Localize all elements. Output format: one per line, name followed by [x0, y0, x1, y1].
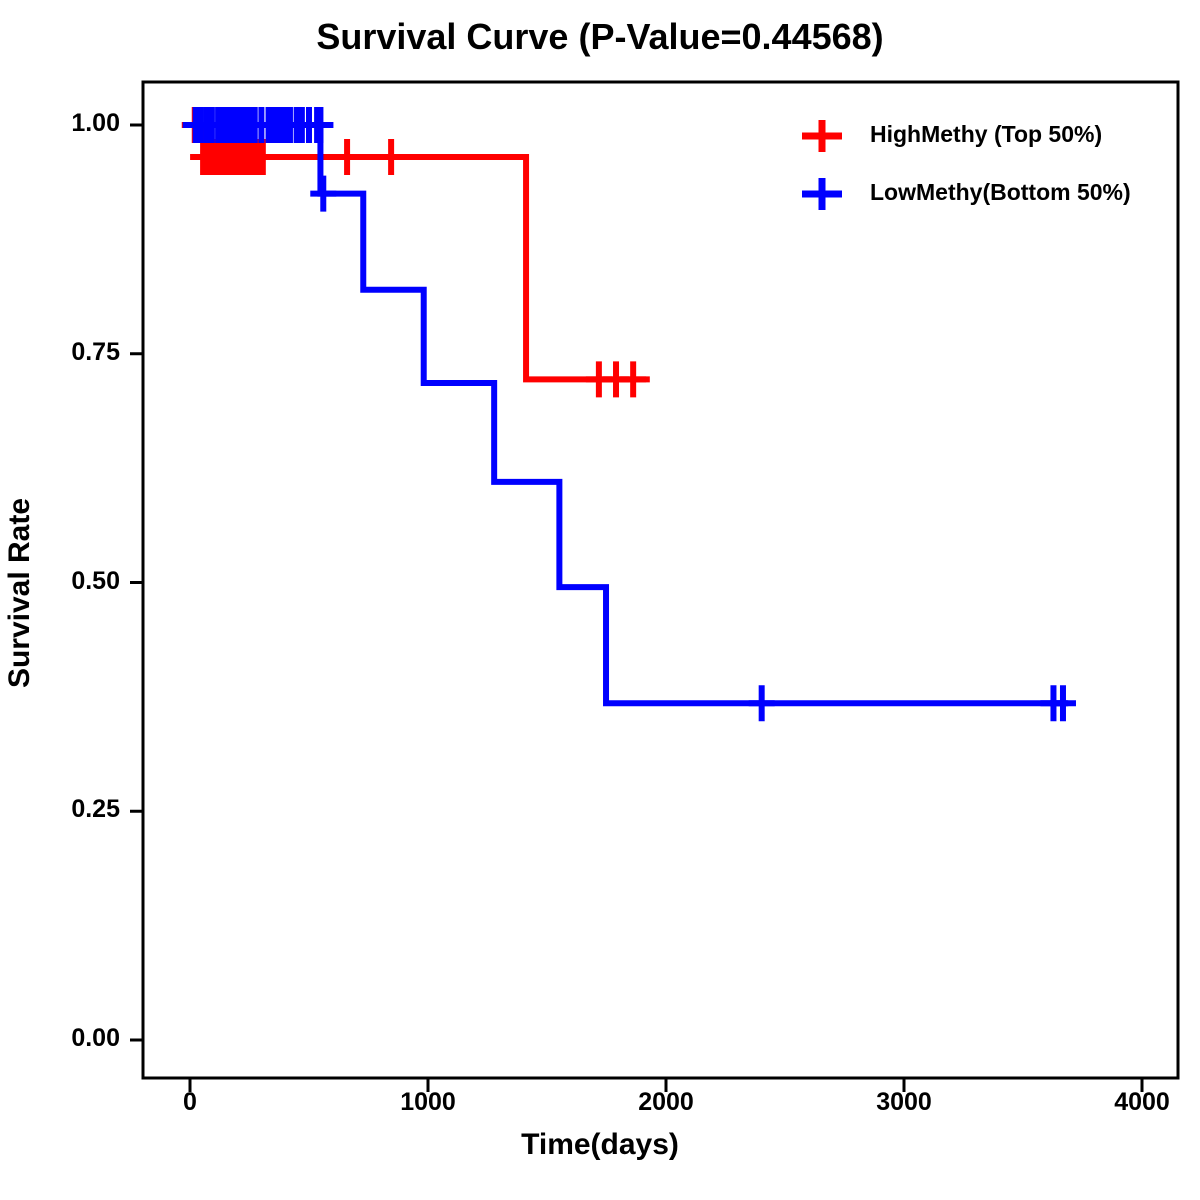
y-tick-label: 0.00 — [0, 1024, 120, 1053]
x-tick-label: 3000 — [844, 1088, 964, 1117]
y-tick-label: 0.50 — [0, 567, 120, 596]
survival-step-line-low-methy — [190, 125, 1068, 703]
y-tick-label: 0.25 — [0, 795, 120, 824]
legend-label-high-methy: HighMethy (Top 50%) — [870, 121, 1102, 148]
x-tick-label: 1000 — [368, 1088, 488, 1117]
y-tick-label: 0.75 — [0, 338, 120, 367]
x-tick-label: 0 — [130, 1088, 250, 1117]
legend-markers — [802, 120, 842, 210]
plot-panel-border — [143, 82, 1178, 1078]
survival-curve-figure: Survival Curve (P-Value=0.44568) Time(da… — [0, 0, 1200, 1200]
y-tick-label: 1.00 — [0, 109, 120, 138]
x-axis-title: Time(days) — [0, 1128, 1200, 1162]
x-tick-label: 2000 — [606, 1088, 726, 1117]
y-axis-ticks — [130, 125, 143, 1040]
x-tick-label: 4000 — [1082, 1088, 1200, 1117]
legend-label-low-methy: LowMethy(Bottom 50%) — [870, 179, 1131, 206]
censor-marks-high-methy — [182, 107, 646, 397]
